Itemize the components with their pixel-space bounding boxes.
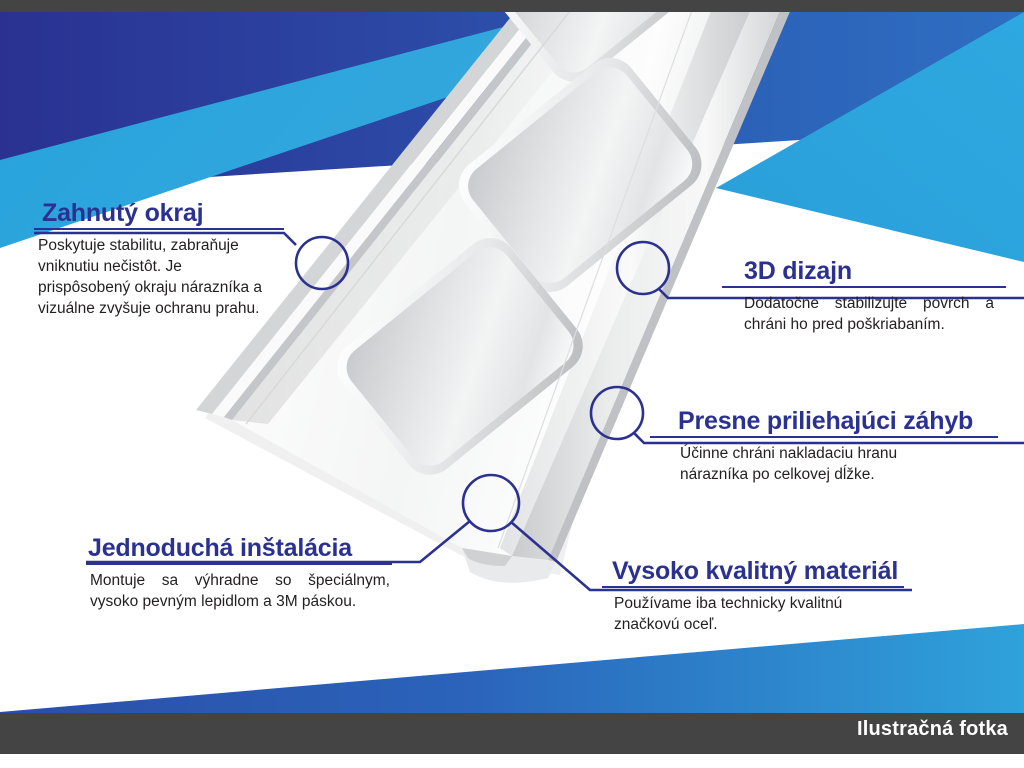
illustrative-photo-note: Ilustračná fotka xyxy=(857,718,1008,741)
callout-rule xyxy=(722,286,1006,288)
callout-title: Jednoduchá inštalácia xyxy=(86,535,392,561)
callout-title: Zahnutý okraj xyxy=(34,200,284,226)
callout-leader-lines xyxy=(0,0,1024,768)
callout-rule xyxy=(34,228,284,230)
callout-rule xyxy=(602,586,904,588)
leader-circle-zahnuty-okraj xyxy=(296,237,348,289)
callout-rule xyxy=(86,563,392,565)
callout-vysoko-kvalitny-material: Vysoko kvalitný materiál Používame iba t… xyxy=(610,558,912,635)
callout-zahnuty-okraj: Zahnutý okraj Poskytuje stabilitu, zabra… xyxy=(34,200,284,319)
callout-body: Účinne chráni nakladaciu hranu nárazníka… xyxy=(676,443,942,485)
leader-circle-presne-zahyb xyxy=(591,387,643,439)
callout-title: 3D dizajn xyxy=(740,258,1024,284)
callout-body: Poskytuje stabilitu, zabraňuje vniknutiu… xyxy=(34,235,270,319)
callout-title: Presne priliehajúci záhyb xyxy=(676,408,1024,434)
callout-presne-priliehajuci-zahyb: Presne priliehajúci záhyb Účinne chráni … xyxy=(676,408,1024,485)
callout-body: Dodatočne stabilizujte povrch a chráni h… xyxy=(740,293,994,335)
callout-title: Vysoko kvalitný materiál xyxy=(610,558,912,584)
bottom-white-strip xyxy=(0,754,1024,768)
infographic-canvas: Zahnutý okraj Poskytuje stabilitu, zabra… xyxy=(0,0,1024,768)
callout-body: Používame iba technicky kvalitnú značkov… xyxy=(610,593,890,635)
leader-circle-3d-dizajn xyxy=(617,242,669,294)
callout-rule xyxy=(650,436,998,438)
top-gray-bar xyxy=(0,0,1024,12)
callout-body: Montuje sa výhradne so špeciálnym, vysok… xyxy=(86,570,390,612)
callout-jednoducha-instalacia: Jednoduchá inštalácia Montuje sa výhradn… xyxy=(86,535,392,612)
callout-3d-dizajn: 3D dizajn Dodatočne stabilizujte povrch … xyxy=(740,258,1024,335)
